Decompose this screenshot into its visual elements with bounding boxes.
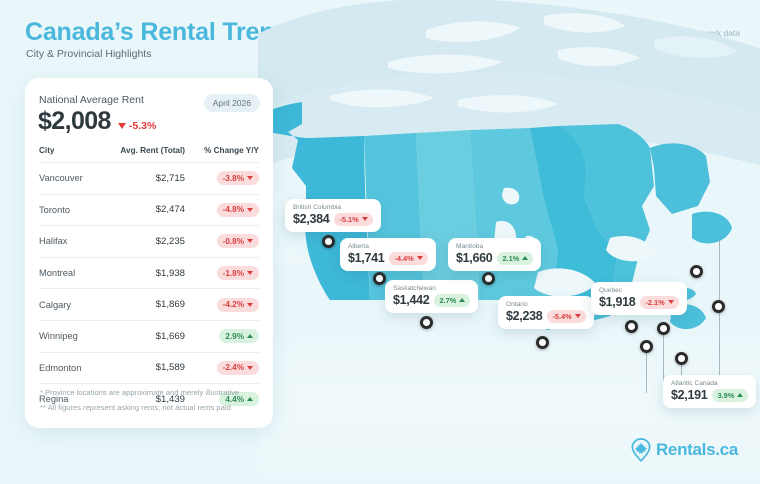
highlights-card: National Average Rent $2,008 -5.3% April…	[25, 78, 273, 428]
national-average-row: $2,008 -5.3%	[38, 107, 156, 136]
card-notes: * Province locations are approximate and…	[40, 386, 266, 415]
national-change: -5.3%	[118, 120, 156, 132]
province-saskatchewan	[416, 130, 480, 300]
cell-change: -0.8%	[185, 226, 259, 258]
change-text: -3.8%	[223, 174, 244, 183]
note-2: ** All figures represent asking rents, n…	[40, 401, 266, 415]
map-pin-quebec[interactable]	[625, 320, 638, 333]
change-badge: -4.8%	[217, 203, 259, 217]
callout-change-badge: -5.4%	[547, 310, 585, 323]
cell-city: Winnipeg	[39, 320, 98, 352]
arrow-up-icon	[522, 256, 528, 260]
callout-british-columbia[interactable]: British Columbia $2,384 -5.1%	[285, 199, 381, 232]
column-header-rent: Avg. Rent (Total)	[98, 146, 185, 163]
callout-province-label: Saskatchewan	[393, 285, 470, 292]
cell-rent: $1,938	[98, 257, 185, 289]
callout-atlantic-canada[interactable]: Atlantic Canada $2,191 3.9%	[663, 375, 756, 408]
logo-text: Rentals.ca	[656, 440, 738, 460]
map-pin-new-brunswick[interactable]	[640, 340, 653, 353]
callout-alberta[interactable]: Alberta $1,741 -4.4%	[340, 238, 436, 271]
map-pin-saskatchewan[interactable]	[420, 316, 433, 329]
change-badge: -3.8%	[217, 171, 259, 185]
callout-value: $1,741	[348, 251, 384, 265]
cell-city: Vancouver	[39, 163, 98, 195]
cell-rent: $1,669	[98, 320, 185, 352]
arrow-down-icon	[247, 271, 253, 275]
table-row: Calgary$1,869-4.2%	[39, 289, 259, 321]
callout-province-label: Ontario	[506, 301, 586, 308]
callout-change-text: 2.7%	[439, 296, 456, 305]
leader-line-nl	[719, 240, 720, 393]
callout-change-badge: 2.1%	[497, 252, 533, 265]
note-1: * Province locations are approximate and…	[40, 386, 266, 400]
national-average-value: $2,008	[38, 107, 111, 136]
change-badge: -0.8%	[217, 234, 259, 248]
arrow-down-icon	[362, 217, 368, 221]
callout-value: $1,918	[599, 295, 635, 309]
cell-change: -3.8%	[185, 163, 259, 195]
column-header-change: % Change Y/Y	[185, 146, 259, 163]
cell-city: Calgary	[39, 289, 98, 321]
callout-change-badge: -4.4%	[389, 252, 427, 265]
cell-city: Halifax	[39, 226, 98, 258]
map-pin-labrador[interactable]	[690, 265, 703, 278]
cell-city: Toronto	[39, 194, 98, 226]
change-text: -4.2%	[223, 300, 244, 309]
change-badge: -2.4%	[217, 361, 259, 375]
map-pin-ontario[interactable]	[536, 336, 549, 349]
callout-change-text: 3.9%	[717, 391, 734, 400]
arrow-down-icon	[247, 176, 253, 180]
month-badge: April 2026	[204, 94, 260, 112]
table-body: Vancouver$2,715-3.8%Toronto$2,474-4.8%Ha…	[39, 163, 259, 415]
change-text: -4.8%	[223, 205, 244, 214]
table-header-row: City Avg. Rent (Total) % Change Y/Y	[39, 146, 259, 163]
callout-manitoba[interactable]: Manitoba $1,660 2.1%	[448, 238, 541, 271]
cell-change: -4.2%	[185, 289, 259, 321]
arrow-up-icon	[459, 298, 465, 302]
arrow-down-icon	[247, 366, 253, 370]
callout-province-label: British Columbia	[293, 204, 373, 211]
callout-province-label: Quebec	[599, 287, 679, 294]
callout-change-text: -5.1%	[339, 215, 358, 224]
callout-value: $2,384	[293, 212, 329, 226]
callout-change-badge: -2.1%	[640, 296, 678, 309]
map-pin-nova-scotia[interactable]	[675, 352, 688, 365]
callout-change-text: -4.4%	[394, 254, 413, 263]
change-badge: 2.9%	[219, 329, 259, 343]
arrow-up-icon	[247, 334, 253, 338]
callout-province-label: Atlantic Canada	[671, 380, 748, 387]
cell-rent: $2,235	[98, 226, 185, 258]
map-pin-alberta[interactable]	[373, 272, 386, 285]
callout-value: $2,191	[671, 388, 707, 402]
cell-change: -1.8%	[185, 257, 259, 289]
table-row: Vancouver$2,715-3.8%	[39, 163, 259, 195]
callout-saskatchewan[interactable]: Saskatchewan $1,442 2.7%	[385, 280, 478, 313]
arrow-down-icon	[575, 314, 581, 318]
arrow-down-icon	[668, 300, 674, 304]
callout-value: $2,238	[506, 309, 542, 323]
arrow-down-icon	[118, 123, 126, 129]
cell-change: -2.4%	[185, 352, 259, 384]
map-pin-prince-edward-island[interactable]	[657, 322, 670, 335]
cell-rent: $1,869	[98, 289, 185, 321]
arrow-down-icon	[247, 208, 253, 212]
callout-change-text: 2.1%	[502, 254, 519, 263]
cell-rent: $1,589	[98, 352, 185, 384]
callout-province-label: Manitoba	[456, 243, 533, 250]
national-change-text: -5.3%	[129, 120, 156, 132]
map-pin-british-columbia[interactable]	[322, 235, 335, 248]
table-row: Halifax$2,235-0.8%	[39, 226, 259, 258]
cell-city: Montreal	[39, 257, 98, 289]
arrow-down-icon	[247, 239, 253, 243]
page-subtitle: City & Provincial Highlights	[26, 48, 151, 60]
change-text: -2.4%	[223, 363, 244, 372]
table-row: Winnipeg$1,6692.9%	[39, 320, 259, 352]
cell-rent: $2,715	[98, 163, 185, 195]
infographic-root: Canada’s Rental Trends City & Provincial…	[0, 0, 760, 484]
callout-ontario[interactable]: Ontario $2,238 -5.4%	[498, 296, 594, 329]
table-row: Edmonton$1,589-2.4%	[39, 352, 259, 384]
national-average-label: National Average Rent	[39, 94, 144, 106]
callout-change-badge: -5.1%	[334, 213, 372, 226]
cell-rent: $2,474	[98, 194, 185, 226]
arrow-down-icon	[417, 256, 423, 260]
map-pin-newfoundland[interactable]	[712, 300, 725, 313]
card-header: National Average Rent $2,008 -5.3% April…	[25, 78, 273, 130]
cell-city: Edmonton	[39, 352, 98, 384]
change-text: 2.9%	[225, 332, 244, 341]
cell-change: 2.9%	[185, 320, 259, 352]
callout-quebec[interactable]: Quebec $1,918 -2.1%	[591, 282, 687, 315]
arrow-up-icon	[737, 393, 743, 397]
callout-change-text: -5.4%	[552, 312, 571, 321]
map-pin-maple-leaf-icon	[631, 438, 651, 462]
map-pin-manitoba[interactable]	[482, 272, 495, 285]
callout-province-label: Alberta	[348, 243, 428, 250]
callout-change-badge: 3.9%	[712, 389, 748, 402]
province-newfoundland-island	[692, 212, 732, 244]
rentals-logo[interactable]: Rentals.ca	[631, 438, 738, 462]
cell-change: -4.8%	[185, 194, 259, 226]
change-badge: -1.8%	[217, 266, 259, 280]
province-newfoundland-labrador	[650, 143, 710, 214]
change-text: -0.8%	[223, 237, 244, 246]
arrow-down-icon	[247, 303, 253, 307]
change-text: -1.8%	[223, 269, 244, 278]
column-header-city: City	[39, 146, 98, 163]
table-row: Montreal$1,938-1.8%	[39, 257, 259, 289]
city-rent-table: City Avg. Rent (Total) % Change Y/Y Vanc…	[39, 146, 259, 415]
callout-value: $1,660	[456, 251, 492, 265]
callout-change-text: -2.1%	[645, 298, 664, 307]
callout-change-badge: 2.7%	[434, 294, 470, 307]
table-row: Toronto$2,474-4.8%	[39, 194, 259, 226]
change-badge: -4.2%	[217, 298, 259, 312]
callout-value: $1,442	[393, 293, 429, 307]
